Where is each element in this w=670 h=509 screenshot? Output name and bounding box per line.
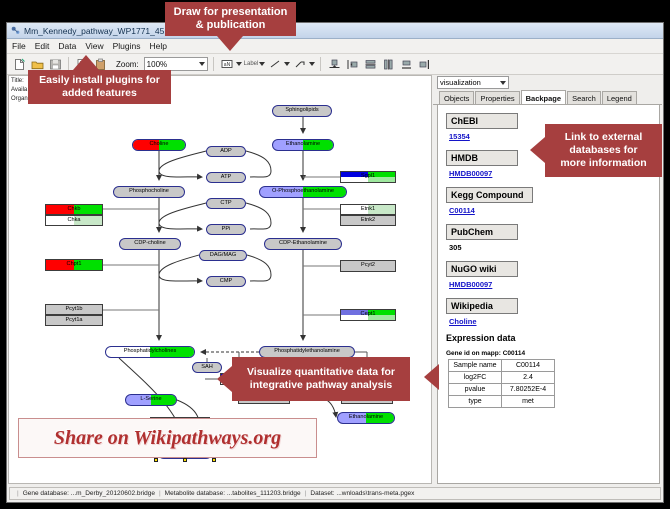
title-bar: Mm_Kennedy_pathway_WP1771_45176.gpml: [7, 23, 663, 39]
gene-node[interactable]: Sgpl1: [340, 171, 396, 183]
callout-share: Share on Wikipathways.org: [18, 418, 317, 458]
metabolite-node[interactable]: Phosphatidylcholines: [105, 346, 195, 358]
callout-links: Link to external databases for more info…: [545, 124, 662, 177]
status-bar: | Gene database: ...m_Derby_20120602.bri…: [9, 487, 661, 500]
callout-draw-line2: & publication: [196, 19, 266, 32]
tab-objects[interactable]: Objects: [439, 91, 474, 104]
line-icon[interactable]: [267, 56, 283, 72]
callout-draw-line1: Draw for presentation: [174, 6, 288, 19]
node-label: Phosphocholine: [129, 189, 169, 195]
table-cell: Sample name: [449, 360, 502, 372]
node-label: Sgpl1: [361, 174, 375, 180]
table-cell: pvalue: [449, 384, 502, 396]
metabolite-node[interactable]: Phosphocholine: [113, 186, 185, 198]
gene-id-on-mapp: Gene id on mapp: C00114: [446, 350, 659, 357]
expression-table: Sample name C00114 log2FC 2.4 pvalue 7.8…: [448, 359, 555, 408]
callout-plugins-line1: Easily install plugins for: [39, 74, 160, 87]
table-row: Sample name C00114: [449, 360, 555, 372]
table-cell: met: [502, 396, 555, 408]
table-cell: log2FC: [449, 372, 502, 384]
table-cell: 7.80252E-4: [502, 384, 555, 396]
kegg-link[interactable]: C00114: [449, 206, 659, 215]
node-label: Phosphatidylethanolamine: [274, 349, 340, 355]
callout-plugins-arrow: [73, 55, 99, 70]
status-divider: |: [305, 490, 307, 497]
callout-expression-arrow: [424, 364, 439, 390]
metabolite-node[interactable]: CTP: [206, 198, 246, 209]
gene-node[interactable]: Pcyt1b: [45, 304, 103, 315]
selection-handle[interactable]: [154, 458, 158, 462]
table-cell: 2.4: [502, 372, 555, 384]
align-left-icon[interactable]: [344, 56, 360, 72]
node-label: Pcyt1b: [65, 307, 82, 313]
metabolite-node[interactable]: L-Serine: [125, 394, 177, 406]
node-label: Etnk1: [361, 207, 375, 213]
label-dropdown[interactable]: Label: [244, 61, 266, 67]
tab-legend[interactable]: Legend: [602, 91, 637, 104]
section-header-hmdb: HMDB: [446, 150, 518, 166]
node-label: Choline: [150, 142, 169, 148]
section-header-wikipedia: Wikipedia: [446, 298, 518, 314]
pubchem-value: 305: [449, 243, 659, 252]
gene-node[interactable]: Chkb: [45, 204, 103, 215]
table-row: type met: [449, 396, 555, 408]
interaction-icon[interactable]: [292, 56, 308, 72]
align-columns-icon[interactable]: [380, 56, 396, 72]
status-dataset: Dataset: ...wnloads\trans-meta.pgex: [310, 490, 414, 497]
metabolite-node[interactable]: ADP: [206, 146, 246, 157]
node-label: Ethanolamine: [349, 415, 383, 421]
tab-backpage[interactable]: Backpage: [521, 90, 566, 104]
chevron-down-icon[interactable]: [284, 62, 290, 66]
callout-visualize-line1: Visualize quantitative data for: [247, 366, 395, 379]
new-file-icon[interactable]: [11, 56, 27, 72]
gene-node[interactable]: Etnk1: [340, 204, 396, 215]
visualization-select[interactable]: visualization: [437, 76, 509, 89]
table-row: log2FC 2.4: [449, 372, 555, 384]
zoom-value: 100%: [147, 60, 167, 69]
nugo-link[interactable]: HMDB00097: [449, 280, 659, 289]
line-dropdown[interactable]: [267, 56, 290, 72]
node-label: Chkb: [67, 207, 80, 213]
metabolite-node[interactable]: CMP: [206, 276, 246, 287]
callout-links-arrow: [530, 137, 545, 163]
status-divider: |: [159, 490, 161, 497]
callout-links-line3: more information: [560, 157, 646, 170]
datanode-icon[interactable]: aN: [219, 56, 235, 72]
menu-item-file[interactable]: File: [12, 41, 26, 51]
status-gene-database: Gene database: ...m_Derby_20120602.bridg…: [23, 490, 155, 497]
stack-right-icon[interactable]: [416, 56, 432, 72]
pathvisio-icon: [11, 26, 20, 35]
visualization-select-value: visualization: [440, 78, 481, 87]
toolbar-separator: [320, 57, 321, 71]
node-label: Chpt1: [67, 262, 82, 268]
metabolite-node[interactable]: Ethanolamine: [272, 139, 334, 151]
menu-item-plugins[interactable]: Plugins: [113, 41, 141, 51]
gene-node[interactable]: Chka: [45, 215, 103, 226]
section-header-kegg: Kegg Compound: [446, 187, 533, 203]
gene-node[interactable]: Etnk2: [340, 215, 396, 226]
node-label: CDP-choline: [134, 241, 165, 247]
node-label: Cept1: [361, 312, 376, 318]
callout-visualize-arrow: [217, 366, 232, 392]
section-header-pubchem: PubChem: [446, 224, 518, 240]
node-label: ATP: [221, 175, 231, 181]
screenshot-root: Mm_Kennedy_pathway_WP1771_45176.gpml Fil…: [0, 0, 670, 509]
metabolite-node[interactable]: O-Phosphoethanolamine: [259, 186, 347, 198]
callout-links-line2: databases for: [569, 144, 637, 157]
chevron-down-icon[interactable]: [309, 62, 315, 66]
stack-bottom-icon[interactable]: [398, 56, 414, 72]
chevron-down-icon: [500, 81, 506, 85]
toolbar-separator: [213, 57, 214, 71]
node-label: CTP: [220, 201, 231, 207]
node-label: L-Serine: [140, 397, 161, 403]
node-label: PPi: [222, 227, 231, 233]
metabolite-node[interactable]: Ethanolamine: [337, 412, 395, 424]
tab-properties[interactable]: Properties: [475, 91, 519, 104]
status-metabolite-database: Metabolite database: ...tabolites_111203…: [165, 490, 301, 497]
chevron-down-icon: [199, 62, 205, 66]
node-label: DAG/MAG: [210, 253, 236, 259]
gene-node[interactable]: Pcyt1a: [45, 315, 103, 326]
tab-search[interactable]: Search: [567, 91, 601, 104]
metabolite-node: Choline: [132, 139, 186, 151]
node-label: Sphingolipids: [285, 108, 318, 114]
menu-item-edit[interactable]: Edit: [35, 41, 50, 51]
callout-visualize: Visualize quantitative data for integrat…: [232, 357, 410, 401]
gene-node[interactable]: Cept1: [340, 309, 396, 321]
node-label: O-Phosphoethanolamine: [272, 189, 334, 195]
chevron-down-icon[interactable]: [259, 62, 265, 66]
metabolite-node[interactable]: DAG/MAG: [199, 250, 247, 261]
callout-plugins: Easily install plugins for added feature…: [28, 70, 171, 104]
metabolite-node[interactable]: CDP-Ethanolamine: [264, 238, 342, 250]
table-cell: type: [449, 396, 502, 408]
node-label: Pcyt1a: [65, 318, 82, 324]
table-cell: C00114: [502, 360, 555, 372]
panel-tabs: Objects Properties Backpage Search Legen…: [433, 91, 662, 105]
svg-text:aN: aN: [223, 62, 230, 68]
callout-draw: Draw for presentation & publication: [165, 2, 296, 36]
align-rows-icon[interactable]: [362, 56, 378, 72]
gene-node[interactable]: Pcyt2: [340, 260, 396, 272]
callout-visualize-line2: integrative pathway analysis: [250, 379, 392, 392]
table-row: pvalue 7.80252E-4: [449, 384, 555, 396]
callout-links-line1: Link to external: [565, 131, 643, 144]
node-label: Pcyt2: [361, 263, 375, 269]
menu-bar: File Edit Data View Plugins Help: [7, 39, 663, 54]
zoom-label: Zoom:: [116, 60, 139, 69]
node-label: Chka: [67, 218, 80, 224]
node-label: SAH: [201, 365, 213, 371]
node-label: ADP: [220, 149, 232, 155]
selection-handle[interactable]: [183, 458, 187, 462]
menu-item-data[interactable]: Data: [58, 41, 76, 51]
section-header-chebi: ChEBI: [446, 113, 518, 129]
toolbar-separator: [68, 57, 69, 71]
node-label: Ethanolamine: [286, 142, 320, 148]
node-label: Etnk2: [361, 218, 375, 224]
selection-handle[interactable]: [212, 458, 216, 462]
metabolite-node[interactable]: PPi: [206, 224, 246, 235]
chevron-down-icon[interactable]: [236, 62, 242, 66]
node-label: CDP-Ethanolamine: [279, 241, 327, 247]
node-label: CMP: [220, 279, 232, 285]
section-header-nugo: NuGO wiki: [446, 261, 518, 277]
zoom-combo[interactable]: 100%: [144, 57, 208, 71]
wikipedia-link[interactable]: Choline: [449, 317, 659, 326]
datanode-dropdown[interactable]: aN: [219, 56, 242, 72]
metabolite-node[interactable]: Sphingolipids: [272, 105, 332, 117]
menu-item-help[interactable]: Help: [150, 41, 167, 51]
node-label: Phosphatidylcholines: [124, 349, 177, 355]
callout-draw-arrow: [217, 36, 243, 51]
callout-plugins-line2: added features: [62, 87, 137, 100]
status-divider: |: [17, 490, 19, 497]
label-dropdown-label: Label: [244, 61, 259, 67]
align-top-icon[interactable]: [326, 56, 342, 72]
interaction-dropdown[interactable]: [292, 56, 315, 72]
expression-data-title: Expression data: [446, 333, 659, 343]
metabolite-node[interactable]: CDP-choline: [119, 238, 181, 250]
metabolite-node[interactable]: ATP: [206, 172, 246, 183]
menu-item-view[interactable]: View: [85, 41, 103, 51]
gene-node[interactable]: Chpt1: [45, 259, 103, 271]
callout-share-text: Share on Wikipathways.org: [54, 427, 281, 450]
